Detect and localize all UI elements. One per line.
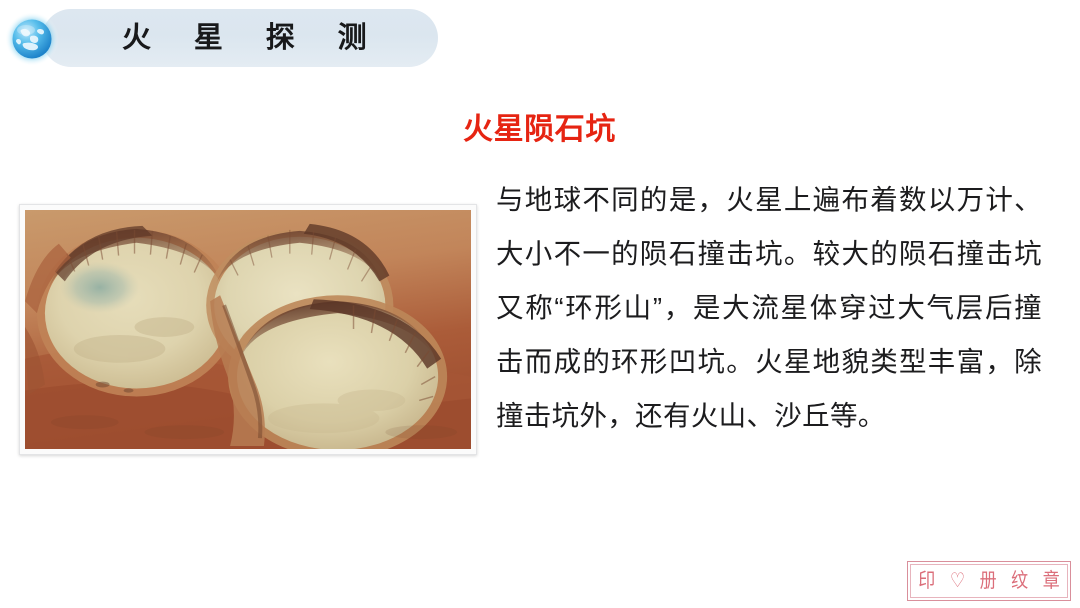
seal-glyph-2: ♡ [950, 571, 965, 591]
body-paragraph: 与地球不同的是，火星上遍布着数以万计、大小不一的陨石撞击坑。较大的陨石撞击坑又称… [496, 173, 1042, 443]
earth-globe-icon [4, 11, 60, 67]
seal-glyph-3: 册 [980, 571, 997, 591]
mars-impact-craters-photo [25, 210, 471, 449]
mars-craters-photo-frame [19, 204, 477, 455]
slide-canvas: 火 星 探 测 火星陨石坑 与地球不同的是，火星上遍布着数以万计、大小不一的陨石… [0, 0, 1080, 608]
section-heading: 火星陨石坑 [463, 104, 616, 148]
seal-script-watermark: 印 ♡ 册 纹 章 [907, 561, 1071, 601]
seal-glyph-1: 印 [918, 571, 935, 591]
page-title: 火 星 探 测 [122, 9, 384, 67]
seal-glyph-4: 纹 [1011, 571, 1028, 591]
watermark-inner-border: 印 ♡ 册 纹 章 [910, 564, 1068, 598]
seal-glyph-5: 章 [1043, 571, 1060, 591]
